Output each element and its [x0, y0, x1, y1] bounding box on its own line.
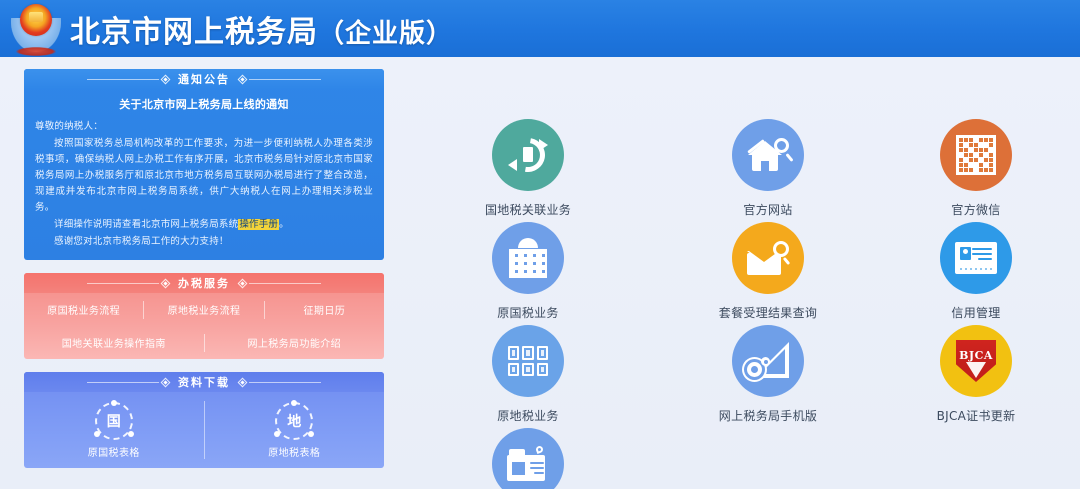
- page-title: 北京市网上税务局（企业版）: [70, 7, 453, 51]
- download-item-label: 原国税表格: [88, 444, 140, 459]
- page-body: 通知公告 关于北京市网上税务局上线的通知 尊敬的纳税人： 按照国家税务总局机构改…: [0, 57, 1080, 489]
- notice-salutation: 尊敬的纳税人：: [35, 119, 373, 135]
- sync-arrows-icon: [492, 119, 564, 191]
- service-panel: 办税服务 原国税业务流程 原地税业务流程 征期日历 国地关联业务操作指南 网上税…: [24, 273, 384, 359]
- service-panel-heading: 办税服务: [172, 275, 236, 291]
- header-subtitle-text: （企业版）: [318, 19, 453, 49]
- mail-search-icon: [732, 222, 804, 294]
- tile-official-website[interactable]: 官方网站: [660, 119, 876, 218]
- notice-paragraph: 按照国家税务总局机构改革的工作要求，为进一步便利纳税人办理各类涉税事项，确保纳税…: [35, 136, 373, 216]
- triangle-gears-icon: [732, 325, 804, 397]
- tile-former-guoshui-business[interactable]: 原国税业务: [420, 222, 636, 321]
- grid-six-icon: [492, 325, 564, 397]
- service-link-tax-calendar[interactable]: 征期日历: [265, 302, 384, 317]
- diamond-icon: [161, 278, 171, 288]
- tile-bjca-certificate-update[interactable]: BJCA BJCA证书更新: [868, 325, 1080, 424]
- tile-label: 网上税务局手机版: [719, 407, 817, 424]
- id-card-icon: [940, 222, 1012, 294]
- service-link-dishui-process[interactable]: 原地税业务流程: [144, 302, 263, 317]
- tile-package-result-query[interactable]: 套餐受理结果查询: [660, 222, 876, 321]
- download-item-guoshui-forms[interactable]: 国 原国税表格: [24, 402, 204, 459]
- tile-label: 原国税业务: [497, 304, 559, 321]
- notice-manual-line: 详细操作说明请查看北京市网上税务局系统操作手册。: [35, 217, 373, 233]
- diamond-icon: [238, 278, 248, 288]
- tile-credit-management[interactable]: 信用管理: [868, 222, 1080, 321]
- download-panel-heading: 资料下载: [172, 374, 236, 390]
- notice-panel: 通知公告 关于北京市网上税务局上线的通知 尊敬的纳税人： 按照国家税务总局机构改…: [24, 69, 384, 260]
- tile-label: 套餐受理结果查询: [719, 304, 817, 321]
- service-link-joint-guide[interactable]: 国地关联业务操作指南: [24, 335, 204, 350]
- bjca-shield-icon: BJCA: [940, 325, 1012, 397]
- tile-official-wechat[interactable]: 官方微信: [868, 119, 1080, 218]
- download-item-dishui-forms[interactable]: 地 原地税表格: [205, 402, 385, 459]
- notice-panel-header: 通知公告: [24, 69, 384, 89]
- manual-prefix: 详细操作说明请查看北京市网上税务局系统: [54, 219, 238, 230]
- tile-label: 官方网站: [743, 201, 792, 218]
- service-row-1: 原国税业务流程 原地税业务流程 征期日历: [24, 293, 384, 326]
- document-info-icon: [492, 428, 564, 489]
- tile-taxpayer-summary-query[interactable]: 纳税人摘要信息查询: [420, 428, 636, 489]
- service-link-feature-intro[interactable]: 网上税务局功能介绍: [205, 335, 385, 350]
- diamond-icon: [238, 74, 248, 84]
- tile-mobile-version[interactable]: 网上税务局手机版: [660, 325, 876, 424]
- deco-right: [236, 280, 321, 287]
- diamond-icon: [161, 74, 171, 84]
- ring-node-icon: 国: [95, 402, 133, 440]
- manual-link[interactable]: 操作手册: [238, 219, 279, 230]
- service-row-2: 国地关联业务操作指南 网上税务局功能介绍: [24, 326, 384, 359]
- notice-thanks: 感谢您对北京市税务局工作的大力支持！: [35, 234, 373, 250]
- deco-right: [236, 76, 321, 83]
- tax-emblem-icon: [8, 2, 64, 56]
- download-panel-header: 资料下载: [24, 372, 384, 392]
- service-panel-header: 办税服务: [24, 273, 384, 293]
- header-title-text: 北京市网上税务局: [70, 15, 318, 50]
- deco-left: [87, 76, 172, 83]
- diamond-icon: [238, 377, 248, 387]
- qr-code-icon: [940, 119, 1012, 191]
- diamond-icon: [161, 377, 171, 387]
- ring-node-icon: 地: [275, 402, 313, 440]
- app-header: 北京市网上税务局（企业版）: [0, 0, 1080, 57]
- service-icon-grid: 国地税关联业务 官方网站 官方微信: [420, 65, 1068, 485]
- ring-glyph: 地: [287, 411, 301, 431]
- manual-suffix: 。: [279, 219, 289, 230]
- building-grid-icon: [492, 222, 564, 294]
- tile-former-dishui-business[interactable]: 原地税业务: [420, 325, 636, 424]
- ring-glyph: 国: [107, 411, 121, 431]
- notice-body: 关于北京市网上税务局上线的通知 尊敬的纳税人： 按照国家税务总局机构改革的工作要…: [24, 89, 384, 260]
- tile-guodishui-joint[interactable]: 国地税关联业务: [420, 119, 636, 218]
- notice-title: 关于北京市网上税务局上线的通知: [35, 96, 373, 112]
- tile-label: 信用管理: [951, 304, 1000, 321]
- download-row: 国 原国税表格 地 原地税表格: [24, 392, 384, 468]
- download-panel: 资料下载 国 原国税表格 地: [24, 372, 384, 468]
- tile-label: 国地税关联业务: [485, 201, 571, 218]
- service-link-guoshui-process[interactable]: 原国税业务流程: [24, 302, 143, 317]
- tile-label: 原地税业务: [497, 407, 559, 424]
- deco-left: [87, 379, 172, 386]
- download-item-label: 原地税表格: [268, 444, 320, 459]
- notice-panel-heading: 通知公告: [172, 71, 236, 87]
- deco-left: [87, 280, 172, 287]
- tile-label: BJCA证书更新: [937, 407, 1016, 424]
- tile-label: 官方微信: [951, 201, 1000, 218]
- left-column: 通知公告 关于北京市网上税务局上线的通知 尊敬的纳税人： 按照国家税务总局机构改…: [24, 69, 384, 481]
- deco-right: [236, 379, 321, 386]
- home-search-icon: [732, 119, 804, 191]
